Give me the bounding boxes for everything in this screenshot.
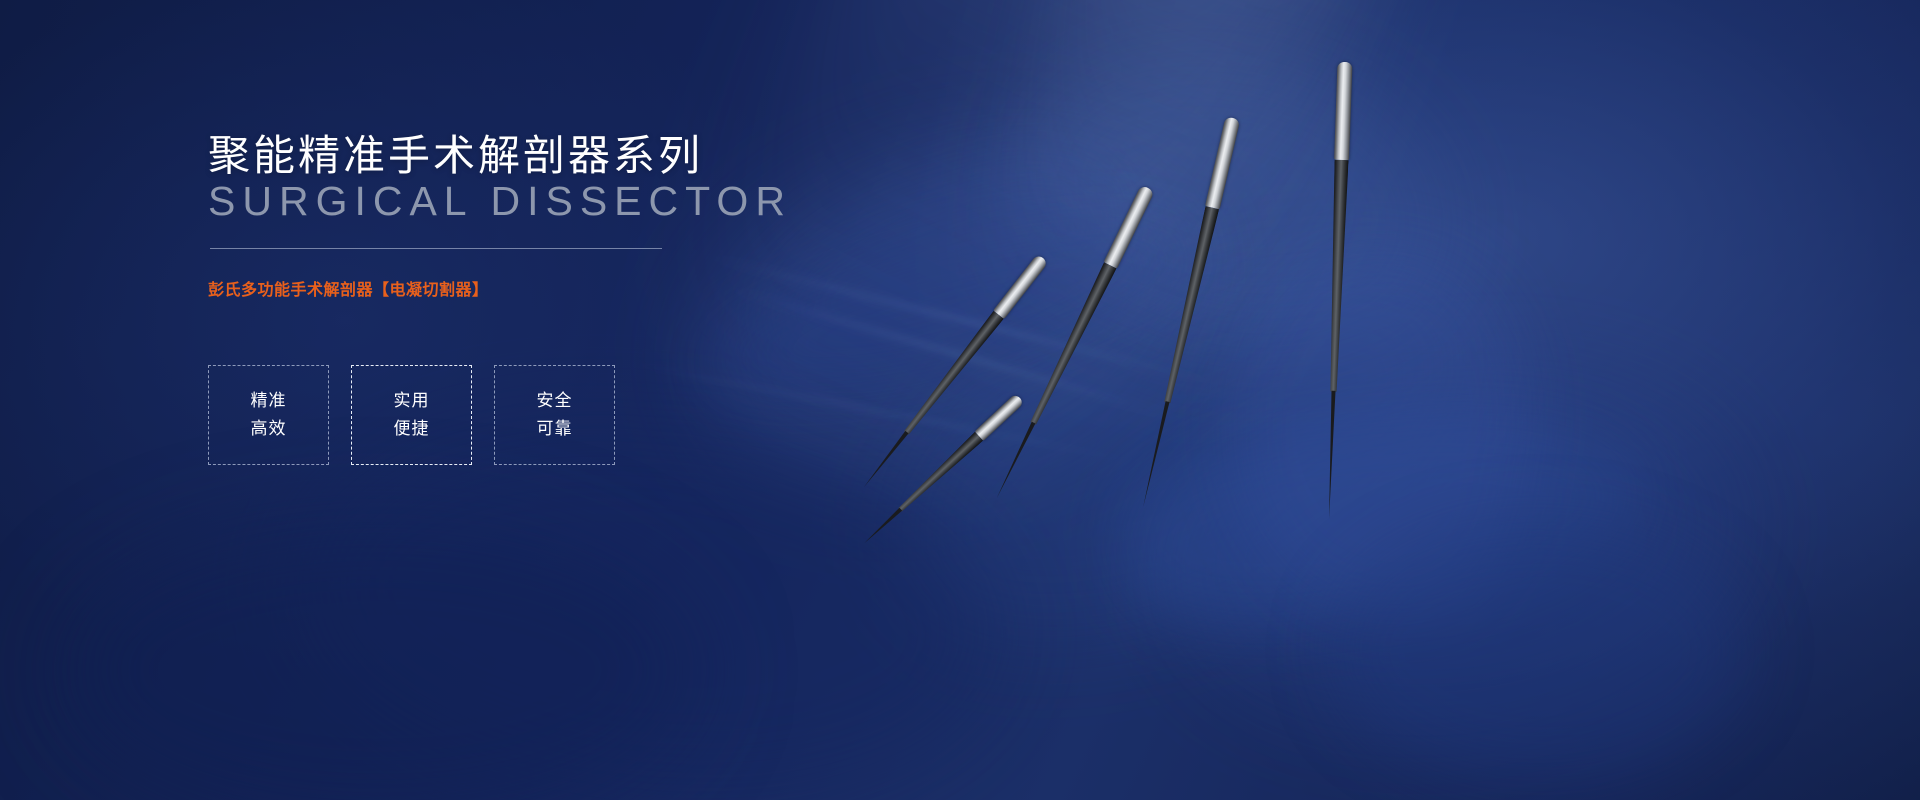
- feature-label-line1: 精准: [251, 387, 287, 415]
- banner-text-block: 聚能精准手术解剖器系列 SURGICAL DISSECTOR 彭氏多功能手术解剖…: [208, 0, 828, 800]
- page-subtitle-english: SURGICAL DISSECTOR: [208, 178, 792, 225]
- page-title: 聚能精准手术解剖器系列: [208, 122, 703, 183]
- feature-box-precision: 精准 高效: [208, 365, 329, 465]
- title-divider: [210, 248, 662, 249]
- promo-banner: 聚能精准手术解剖器系列 SURGICAL DISSECTOR 彭氏多功能手术解剖…: [0, 0, 1920, 800]
- feature-box-practical: 实用 便捷: [351, 365, 472, 465]
- feature-box-group: 精准 高效 实用 便捷 安全 可靠: [208, 365, 637, 465]
- feature-label-line2: 可靠: [537, 415, 573, 443]
- product-name-highlight: 彭氏多功能手术解剖器【电凝切割器】: [208, 276, 489, 300]
- feature-label-line2: 高效: [251, 415, 287, 443]
- feature-box-safety: 安全 可靠: [494, 365, 615, 465]
- feature-label-line1: 安全: [537, 387, 573, 415]
- feature-label-line1: 实用: [394, 387, 430, 415]
- feature-label-line2: 便捷: [394, 415, 430, 443]
